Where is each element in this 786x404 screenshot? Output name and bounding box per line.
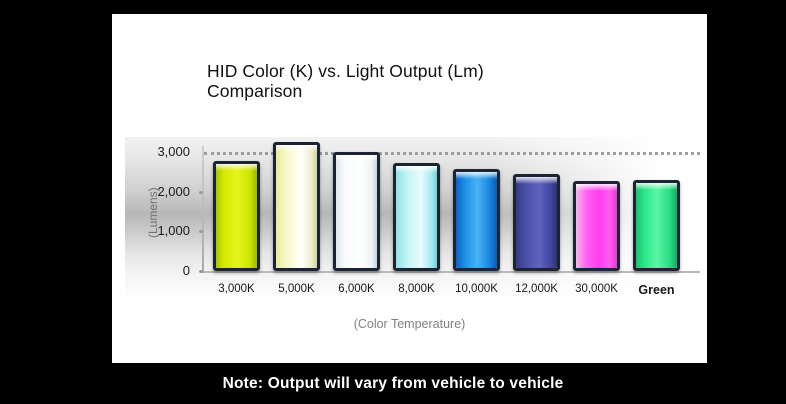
x-axis-tick-label: 10,000K	[444, 283, 509, 295]
bar-fill	[276, 145, 317, 268]
bar-fill	[396, 166, 437, 268]
y-axis-tick-label: 3,000	[112, 144, 190, 159]
x-axis-line	[202, 271, 700, 273]
bar-fill	[456, 172, 497, 268]
x-axis-tick-label: 30,000K	[564, 283, 629, 295]
bar-8000k[interactable]	[393, 163, 440, 271]
slide-card: HID Color (K) vs. Light Output (Lm) Comp…	[112, 14, 707, 363]
bar-6000k[interactable]	[333, 152, 380, 271]
y-axis-tick-label: 0	[112, 263, 190, 278]
bar-fill	[216, 164, 257, 268]
x-axis-tick-label: 3,000K	[204, 283, 269, 295]
bar-30000k[interactable]	[573, 181, 620, 271]
bar-fill	[336, 155, 377, 268]
bar-fill	[576, 184, 617, 268]
y-axis-label: (Lumens)	[146, 187, 160, 238]
x-axis-tick-label: 8,000K	[384, 283, 449, 295]
bar-10000k[interactable]	[453, 169, 500, 271]
slide-stage: HID Color (K) vs. Light Output (Lm) Comp…	[0, 0, 786, 404]
x-axis-tick-label: 12,000K	[504, 283, 569, 295]
bar-3000k[interactable]	[213, 161, 260, 271]
bar-green[interactable]	[633, 180, 680, 271]
x-axis-tick-label: Green	[624, 283, 689, 297]
bar-chart-plot: 01,0002,0003,000(Lumens)3,000K5,000K6,00…	[112, 14, 707, 363]
y-axis-line	[202, 146, 204, 273]
bar-gloss	[336, 155, 377, 162]
bar-12000k[interactable]	[513, 174, 560, 271]
bar-gloss	[276, 145, 317, 152]
footer-note: Note: Output will vary from vehicle to v…	[0, 363, 786, 404]
bar-gloss	[516, 177, 557, 184]
y-axis-tick-mark	[199, 270, 203, 273]
bar-gloss	[396, 166, 437, 173]
y-axis-tick-mark	[199, 191, 203, 194]
bar-gloss	[576, 184, 617, 191]
x-axis-label: (Color Temperature)	[112, 317, 707, 331]
bar-fill	[516, 177, 557, 268]
x-axis-tick-label: 5,000K	[264, 283, 329, 295]
bar-gloss	[216, 164, 257, 171]
bar-fill	[636, 183, 677, 268]
x-axis-tick-label: 6,000K	[324, 283, 389, 295]
bar-gloss	[636, 183, 677, 190]
bar-gloss	[456, 172, 497, 179]
bar-5000k[interactable]	[273, 142, 320, 271]
